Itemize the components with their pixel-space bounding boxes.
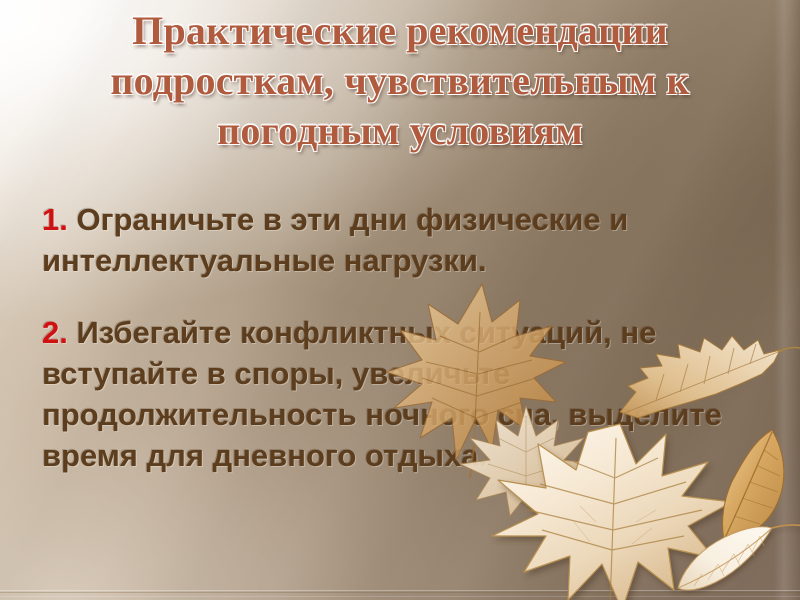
recommendation-item-2: 2. Избегайте конфликтных ситуаций, не вс…	[42, 312, 758, 476]
presentation-slide: Практические рекомендации подросткам, чу…	[0, 0, 800, 600]
oval-leaf-icon	[668, 516, 800, 600]
body-content: 1. Ограничьте в эти дни физические и инт…	[42, 168, 758, 507]
background-bottom-rule-faint	[0, 596, 800, 597]
background-right-edge-band	[774, 0, 800, 600]
title-line-2: подросткам, чувствительным к	[38, 56, 762, 106]
title-line-3: погодным условиям	[38, 106, 762, 156]
title-line-1: Практические рекомендации	[38, 6, 762, 56]
item-text-1: Ограничьте в эти дни физические и интелл…	[42, 202, 628, 278]
page-title: Практические рекомендации подросткам, чу…	[38, 6, 762, 156]
item-text-2: Избегайте конфликтных ситуаций, не вступ…	[42, 315, 722, 473]
item-number-1: 1.	[42, 202, 76, 237]
background-bottom-rule-dark	[0, 592, 800, 593]
background-bottom-rule-light	[0, 590, 800, 591]
recommendation-item-1: 1. Ограничьте в эти дни физические и инт…	[42, 199, 758, 281]
item-number-2: 2.	[42, 315, 76, 350]
